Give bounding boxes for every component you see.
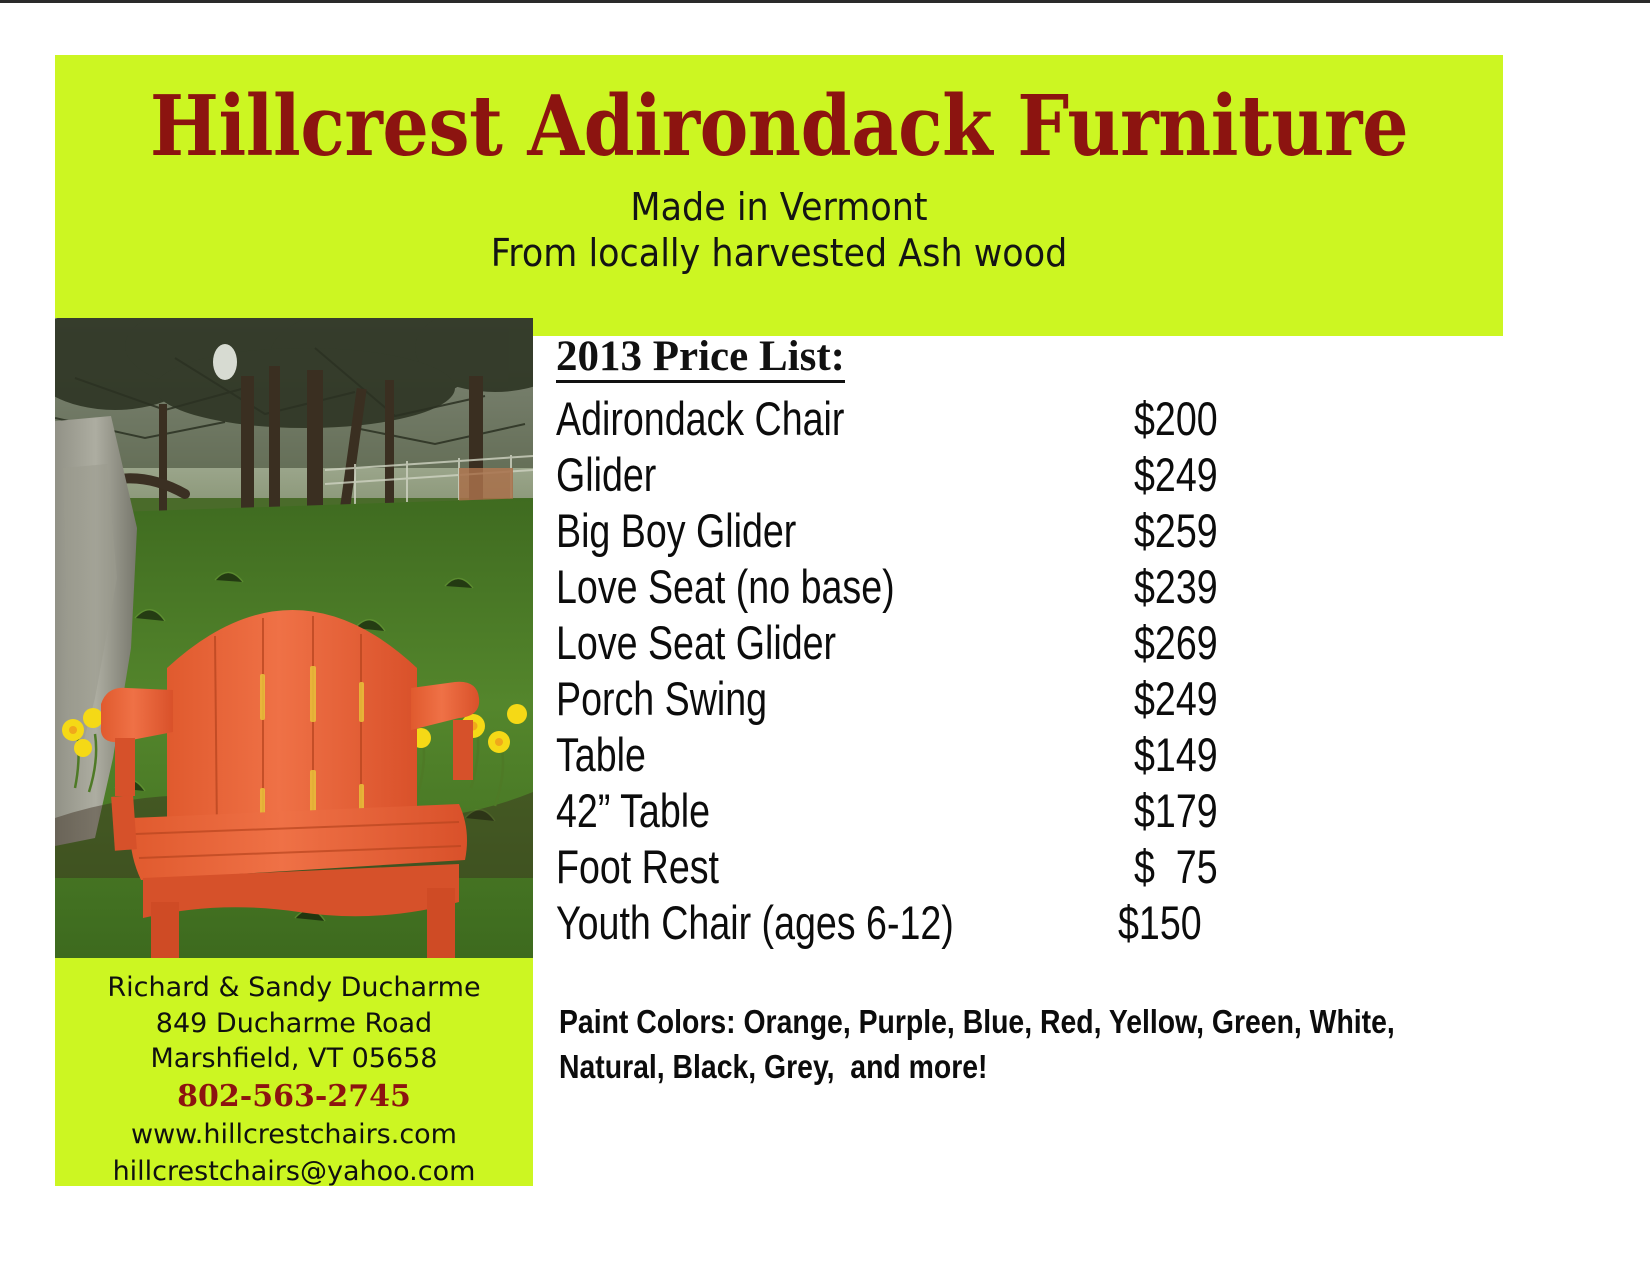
price-item-name: Love Seat Glider — [556, 615, 1132, 671]
price-row: Foot Rest $ 75 — [556, 839, 1276, 895]
price-item-name: Big Boy Glider — [556, 503, 1132, 559]
price-list-heading: 2013 Price List: — [556, 334, 845, 383]
product-photo — [55, 318, 533, 958]
price-item-amount: $ 75 — [1134, 839, 1342, 895]
city-state-zip: Marshfield, VT 05658 — [55, 1041, 533, 1077]
price-row: Table $149 — [556, 727, 1276, 783]
tagline-ash-wood: From locally harvested Ash wood — [113, 230, 1445, 276]
price-item-amount: $200 — [1134, 391, 1342, 447]
price-item-amount: $249 — [1134, 447, 1342, 503]
page-title: Hillcrest Adirondack Furniture — [142, 55, 1416, 168]
price-item-amount: $239 — [1134, 559, 1342, 615]
price-row: Big Boy Glider $259 — [556, 503, 1276, 559]
price-list-rows: Adirondack Chair $200 Glider $249 Big Bo… — [556, 391, 1276, 951]
price-item-amount: $249 — [1134, 671, 1342, 727]
price-row: Love Seat Glider $269 — [556, 615, 1276, 671]
website-link[interactable]: www.hillcrestchairs.com — [55, 1117, 533, 1153]
header-banner: Hillcrest Adirondack Furniture Made in V… — [55, 55, 1503, 336]
price-row: Youth Chair (ages 6-12) $150 — [556, 895, 1276, 951]
adirondack-chair-photo-illustration — [55, 318, 533, 958]
price-item-name: 42” Table — [556, 783, 1132, 839]
price-row: Glider $249 — [556, 447, 1276, 503]
price-row: 42” Table $179 — [556, 783, 1276, 839]
price-item-name: Table — [556, 727, 1132, 783]
phone-number[interactable]: 802-563-2745 — [55, 1077, 533, 1118]
price-item-amount: $150 — [1118, 895, 1326, 951]
tagline-made-in-vermont: Made in Vermont — [113, 168, 1445, 230]
scan-top-edge — [0, 0, 1650, 3]
paint-colors-line-1: Paint Colors: Orange, Purple, Blue, Red,… — [559, 1000, 1385, 1045]
price-list: 2013 Price List: Adirondack Chair $200 G… — [556, 334, 1276, 951]
price-row: Porch Swing $249 — [556, 671, 1276, 727]
price-item-amount: $269 — [1134, 615, 1342, 671]
paint-colors-note: Paint Colors: Orange, Purple, Blue, Red,… — [559, 1000, 1519, 1089]
price-item-amount: $149 — [1134, 727, 1342, 783]
price-item-amount: $259 — [1134, 503, 1342, 559]
owner-names: Richard & Sandy Ducharme — [55, 958, 533, 1006]
price-item-name: Youth Chair (ages 6-12) — [556, 895, 1132, 951]
price-row: Love Seat (no base) $239 — [556, 559, 1276, 615]
price-item-amount: $179 — [1134, 783, 1342, 839]
paint-colors-line-2: Natural, Black, Grey, and more! — [559, 1045, 1385, 1090]
price-item-name: Adirondack Chair — [556, 391, 1132, 447]
contact-block: Richard & Sandy Ducharme 849 Ducharme Ro… — [55, 958, 533, 1186]
street-address: 849 Ducharme Road — [55, 1006, 533, 1042]
price-item-name: Love Seat (no base) — [556, 559, 1132, 615]
email-link[interactable]: hillcrestchairs@yahoo.com — [55, 1154, 533, 1186]
price-item-name: Porch Swing — [556, 671, 1132, 727]
price-row: Adirondack Chair $200 — [556, 391, 1276, 447]
price-item-name: Glider — [556, 447, 1132, 503]
price-item-name: Foot Rest — [556, 839, 1132, 895]
